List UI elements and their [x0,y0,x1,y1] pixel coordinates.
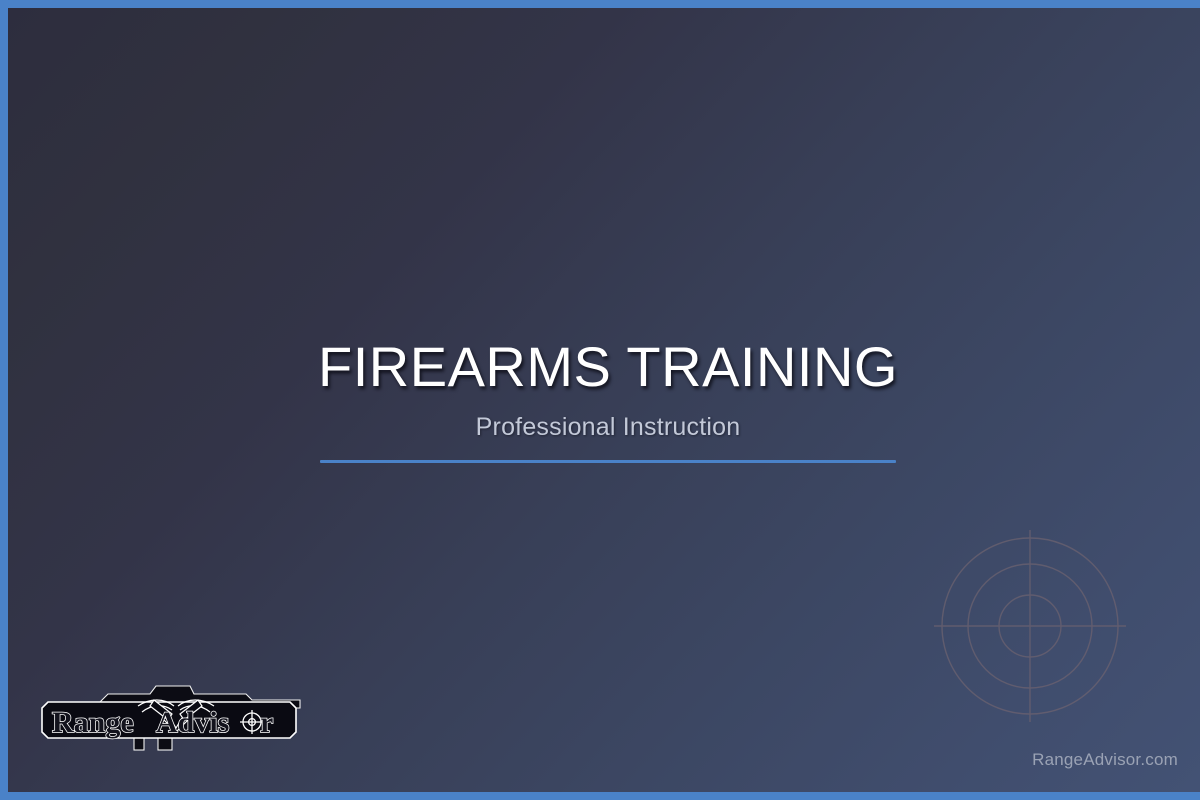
accent-divider [320,460,896,463]
page-title: FIREARMS TRAINING [8,338,1200,397]
page-subtitle: Professional Instruction [8,413,1200,442]
presentation-slide: FIREARMS TRAINING Professional Instructi… [0,0,1200,800]
logo-word-range: Range [52,706,134,739]
target-crosshair-icon [930,526,1130,726]
logo-word-advisor: Advis [156,706,229,739]
logo-word-advisor-tail: r [260,706,273,739]
brand-logo: Range Advis r [38,676,314,756]
footer-website-url: RangeAdvisor.com [1032,750,1178,770]
title-block: FIREARMS TRAINING Professional Instructi… [8,338,1200,442]
